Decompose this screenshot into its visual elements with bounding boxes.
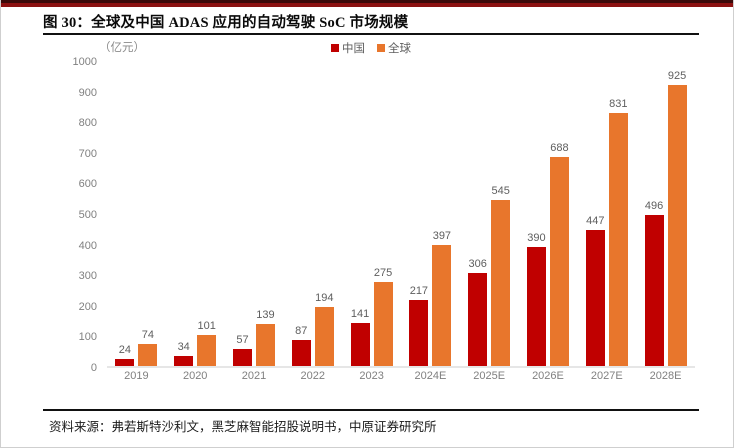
y-axis-tick: 900 <box>79 87 97 99</box>
bar-global[interactable]: 139 <box>256 324 275 366</box>
x-axis-baseline <box>107 366 695 368</box>
footer-divider <box>43 409 699 411</box>
chart-region: （亿元） 中国 全球 01002003004005006007008009001… <box>43 36 699 389</box>
bar-value-label: 57 <box>236 334 248 346</box>
x-axis-tick: 2022 <box>283 370 342 382</box>
bar-global[interactable]: 397 <box>432 245 451 366</box>
bar-value-label: 496 <box>645 200 663 212</box>
bar-value-label: 139 <box>256 309 274 321</box>
legend-item-china[interactable]: 中国 <box>331 40 365 56</box>
bar-value-label: 390 <box>527 232 545 244</box>
title-divider <box>43 33 699 35</box>
y-axis-tick: 600 <box>79 178 97 190</box>
bar-china[interactable]: 217 <box>409 300 428 366</box>
y-axis-tick: 1000 <box>73 56 97 68</box>
bar-value-label: 831 <box>609 98 627 110</box>
x-axis-tick: 2020 <box>166 370 225 382</box>
bar-value-label: 447 <box>586 215 604 227</box>
bar-value-label: 545 <box>491 185 509 197</box>
x-axis-tick: 2028E <box>636 370 695 382</box>
figure-title-container: 图 30：全球及中国 ADAS 应用的自动驾驶 SoC 市场规模 <box>43 11 699 32</box>
bar-value-label: 397 <box>433 230 451 242</box>
legend-label-global: 全球 <box>388 40 411 56</box>
x-axis-tick: 2023 <box>342 370 401 382</box>
plot-area: 01002003004005006007008009001000 2474341… <box>43 62 699 389</box>
bar-china[interactable]: 306 <box>468 273 487 366</box>
legend-item-global[interactable]: 全球 <box>377 40 411 56</box>
bar-groups: 2474341015713987194141275217397306545390… <box>107 62 695 366</box>
y-axis-unit-label: （亿元） <box>99 39 145 55</box>
bar-china[interactable]: 447 <box>586 230 605 366</box>
bar-group: 306545 <box>460 62 519 366</box>
legend-swatch-global <box>377 44 385 52</box>
bar-china[interactable]: 390 <box>527 247 546 366</box>
y-axis: 01002003004005006007008009001000 <box>43 62 105 368</box>
bar-china[interactable]: 57 <box>233 349 252 366</box>
bar-global[interactable]: 688 <box>550 157 569 366</box>
bar-china[interactable]: 496 <box>645 215 664 366</box>
bar-value-label: 275 <box>374 267 392 279</box>
bar-china[interactable]: 34 <box>174 356 193 366</box>
y-axis-tick: 500 <box>79 209 97 221</box>
x-axis-tick: 2024E <box>401 370 460 382</box>
bar-group: 2474 <box>107 62 166 366</box>
y-axis-tick: 200 <box>79 301 97 313</box>
figure-page: 图 30：全球及中国 ADAS 应用的自动驾驶 SoC 市场规模 （亿元） 中国… <box>0 0 734 448</box>
bar-group: 34101 <box>166 62 225 366</box>
bar-group: 390688 <box>519 62 578 366</box>
bar-global[interactable]: 275 <box>374 282 393 366</box>
bar-group: 217397 <box>401 62 460 366</box>
x-axis-tick: 2021 <box>225 370 284 382</box>
bar-china[interactable]: 24 <box>115 359 134 366</box>
x-axis-tick: 2027E <box>577 370 636 382</box>
bar-value-label: 141 <box>351 308 369 320</box>
bar-group: 447831 <box>577 62 636 366</box>
y-axis-tick: 400 <box>79 240 97 252</box>
legend-swatch-china <box>331 44 339 52</box>
bar-group: 87194 <box>283 62 342 366</box>
y-axis-tick: 800 <box>79 117 97 129</box>
bar-value-label: 24 <box>119 344 131 356</box>
bar-value-label: 101 <box>198 320 216 332</box>
bar-global[interactable]: 101 <box>197 335 216 366</box>
bar-china[interactable]: 141 <box>351 323 370 366</box>
bar-value-label: 217 <box>410 285 428 297</box>
bar-global[interactable]: 925 <box>668 85 687 366</box>
bar-group: 141275 <box>342 62 401 366</box>
bar-value-label: 87 <box>295 325 307 337</box>
x-axis-tick: 2019 <box>107 370 166 382</box>
bar-value-label: 194 <box>315 292 333 304</box>
bar-value-label: 925 <box>668 70 686 82</box>
bar-china[interactable]: 87 <box>292 340 311 366</box>
y-axis-tick: 700 <box>79 148 97 160</box>
bar-value-label: 34 <box>178 341 190 353</box>
plot-inner: 2474341015713987194141275217397306545390… <box>107 62 695 368</box>
top-border-red <box>1 3 733 7</box>
figure-title: 图 30：全球及中国 ADAS 应用的自动驾驶 SoC 市场规模 <box>43 11 699 32</box>
x-axis-tick: 2025E <box>460 370 519 382</box>
bar-value-label: 74 <box>142 329 154 341</box>
source-note: 资料来源：弗若斯特沙利文，黑芝麻智能招股说明书，中原证券研究所 <box>49 416 437 435</box>
bar-value-label: 306 <box>468 258 486 270</box>
bar-value-label: 688 <box>550 142 568 154</box>
bar-global[interactable]: 74 <box>138 344 157 366</box>
bar-group: 57139 <box>225 62 284 366</box>
x-axis: 201920202021202220232024E2025E2026E2027E… <box>107 370 695 382</box>
x-axis-tick: 2026E <box>519 370 578 382</box>
legend-label-china: 中国 <box>342 40 365 56</box>
bar-global[interactable]: 545 <box>491 200 510 366</box>
y-axis-tick: 0 <box>91 362 97 374</box>
y-axis-tick: 300 <box>79 270 97 282</box>
y-axis-tick: 100 <box>79 331 97 343</box>
bar-global[interactable]: 194 <box>315 307 334 366</box>
bar-global[interactable]: 831 <box>609 113 628 366</box>
bar-group: 496925 <box>636 62 695 366</box>
